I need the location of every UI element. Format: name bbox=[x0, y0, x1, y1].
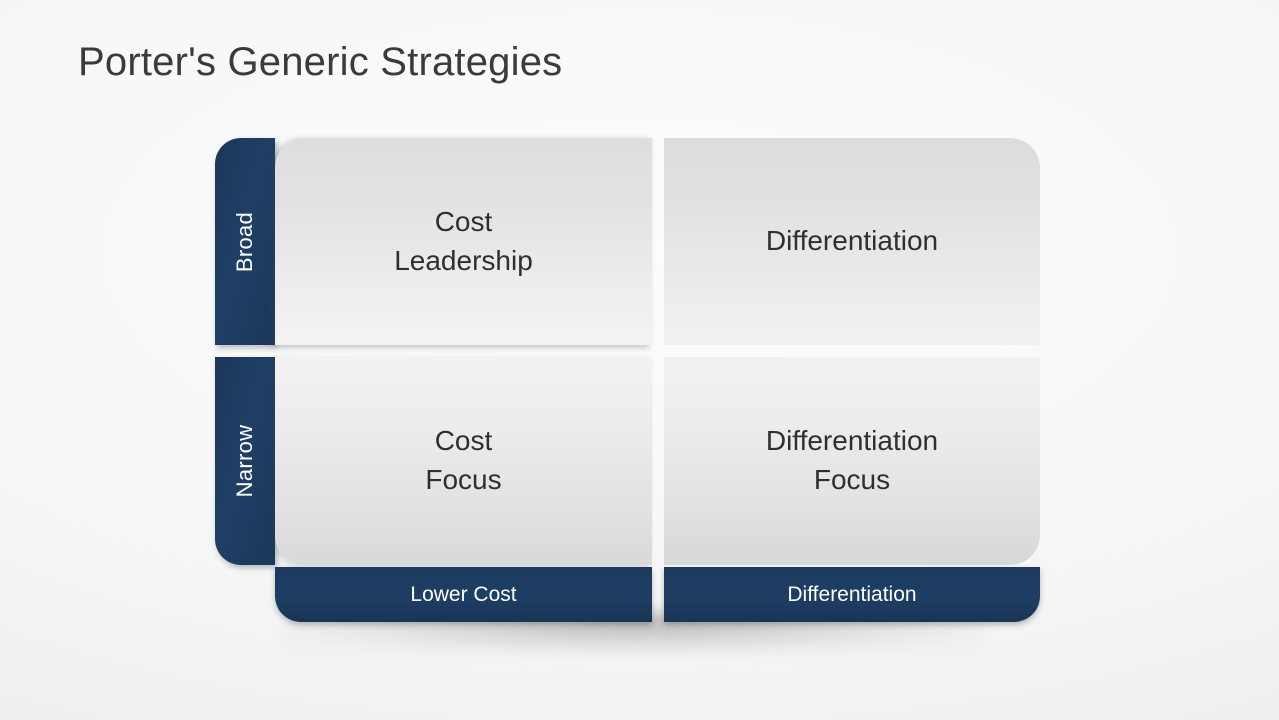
quadrant-cost-focus[interactable]: Cost Focus bbox=[275, 357, 652, 565]
scope-bar-narrow[interactable]: Narrow bbox=[215, 357, 275, 565]
advantage-bar-lower-cost[interactable]: Lower Cost bbox=[275, 567, 652, 622]
advantage-bar-differentiation[interactable]: Differentiation bbox=[664, 567, 1040, 622]
scope-label-broad: Broad bbox=[232, 211, 258, 271]
quadrant-differentiation-focus[interactable]: Differentiation Focus bbox=[664, 357, 1040, 565]
quadrant-label-cost-leadership: Cost Leadership bbox=[394, 203, 533, 280]
scope-label-narrow: Narrow bbox=[232, 425, 258, 498]
advantage-label-lower-cost: Lower Cost bbox=[410, 583, 516, 607]
quadrant-cost-leadership[interactable]: Cost Leadership bbox=[275, 138, 652, 345]
page-title: Porter's Generic Strategies bbox=[78, 40, 562, 85]
advantage-label-differentiation: Differentiation bbox=[787, 583, 916, 607]
porters-generic-strategies-matrix: Broad Narrow Cost Leadership Differentia… bbox=[215, 138, 1040, 622]
quadrant-label-differentiation-focus: Differentiation Focus bbox=[766, 422, 938, 499]
quadrant-label-differentiation: Differentiation bbox=[766, 222, 938, 261]
scope-bar-broad[interactable]: Broad bbox=[215, 138, 275, 345]
quadrant-differentiation[interactable]: Differentiation bbox=[664, 138, 1040, 345]
quadrant-label-cost-focus: Cost Focus bbox=[425, 422, 501, 499]
